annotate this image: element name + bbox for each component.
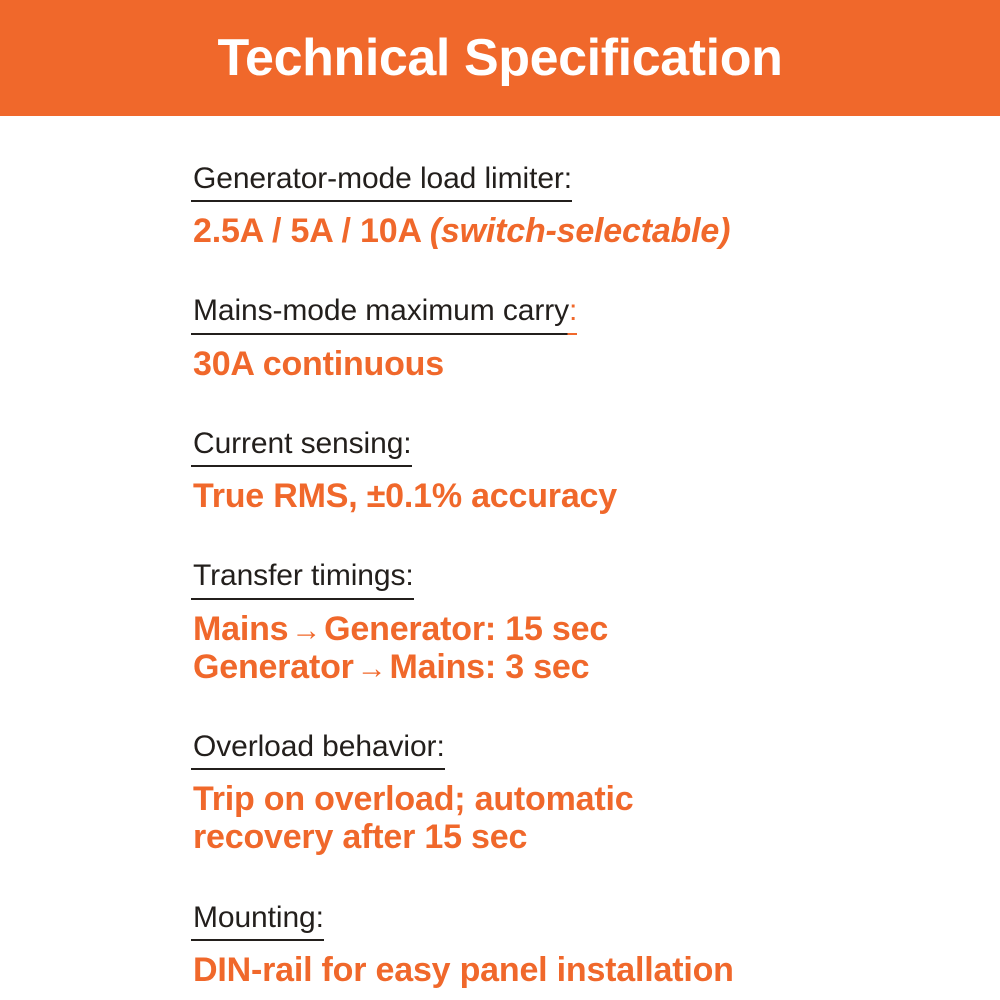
spec-label-wrap: Mounting:: [191, 902, 324, 941]
label-underline-rule: [191, 598, 414, 600]
header-band: Technical Specification: [0, 0, 1000, 116]
spec-value: Mains→Generator: 15 sec Generator→Mains:…: [193, 610, 853, 686]
label-underline-rule: [191, 768, 445, 770]
spec-value: True RMS, ±0.1% accuracy: [193, 477, 1000, 515]
spec-value: 30A continuous: [193, 345, 1000, 383]
spec-label-text: Mains-mode maximum carry: [193, 294, 569, 327]
transfer-from: Mains: [193, 610, 288, 648]
spec-label-wrap: Mains-mode maximum carry:: [191, 295, 577, 334]
transfer-timing-line: Mains→Generator: 15 sec: [193, 610, 853, 648]
spec-list: Generator-mode load limiter: 2.5A / 5A /…: [0, 116, 1000, 1000]
arrow-right-icon: →: [288, 614, 324, 647]
spec-value-main: 2.5A / 5A / 10A: [193, 212, 421, 250]
arrow-right-icon: →: [354, 652, 390, 685]
spec-value: 2.5A / 5A / 10A (switch-selectable): [193, 212, 1000, 250]
spec-value: Trip on overload; automatic recovery aft…: [193, 780, 733, 856]
spec-block-overload-behavior: Overload behavior: Trip on overload; aut…: [193, 731, 1000, 857]
spec-block-current-sensing: Current sensing: True RMS, ±0.1% accurac…: [193, 428, 1000, 515]
spec-value-note: (switch-selectable): [430, 212, 730, 250]
label-underline-rule: [191, 939, 324, 941]
spec-block-mains-max-carry: Mains-mode maximum carry: 30A continuous: [193, 295, 1000, 382]
transfer-to: Mains: 3 sec: [390, 648, 590, 686]
spec-label: Overload behavior:: [193, 731, 445, 763]
transfer-timing-line: Generator→Mains: 3 sec: [193, 648, 853, 686]
transfer-from: Generator: [193, 648, 354, 686]
spec-label: Transfer timings:: [193, 560, 414, 592]
spec-label-wrap: Overload behavior:: [191, 731, 445, 770]
label-underline-rule: [191, 333, 577, 335]
spec-label-colon: :: [569, 294, 577, 327]
page-title: Technical Specification: [218, 32, 783, 84]
label-underline-rule: [191, 465, 412, 467]
label-underline-rule: [191, 200, 572, 202]
spec-label: Generator-mode load limiter:: [193, 163, 572, 195]
spec-value: DIN-rail for easy panel installation: [193, 951, 1000, 989]
spec-label-wrap: Current sensing:: [191, 428, 412, 467]
spec-block-generator-load-limiter: Generator-mode load limiter: 2.5A / 5A /…: [193, 163, 1000, 250]
spec-sheet-page: Technical Specification Generator-mode l…: [0, 0, 1000, 1000]
spec-label-wrap: Transfer timings:: [191, 560, 414, 599]
spec-label: Mains-mode maximum carry:: [193, 295, 577, 327]
transfer-to: Generator: 15 sec: [324, 610, 608, 648]
spec-block-mounting: Mounting: DIN-rail for easy panel instal…: [193, 902, 1000, 989]
spec-label-wrap: Generator-mode load limiter:: [191, 163, 572, 202]
spec-label: Current sensing:: [193, 428, 412, 460]
spec-block-transfer-timings: Transfer timings: Mains→Generator: 15 se…: [193, 560, 1000, 686]
spec-label: Mounting:: [193, 902, 324, 934]
